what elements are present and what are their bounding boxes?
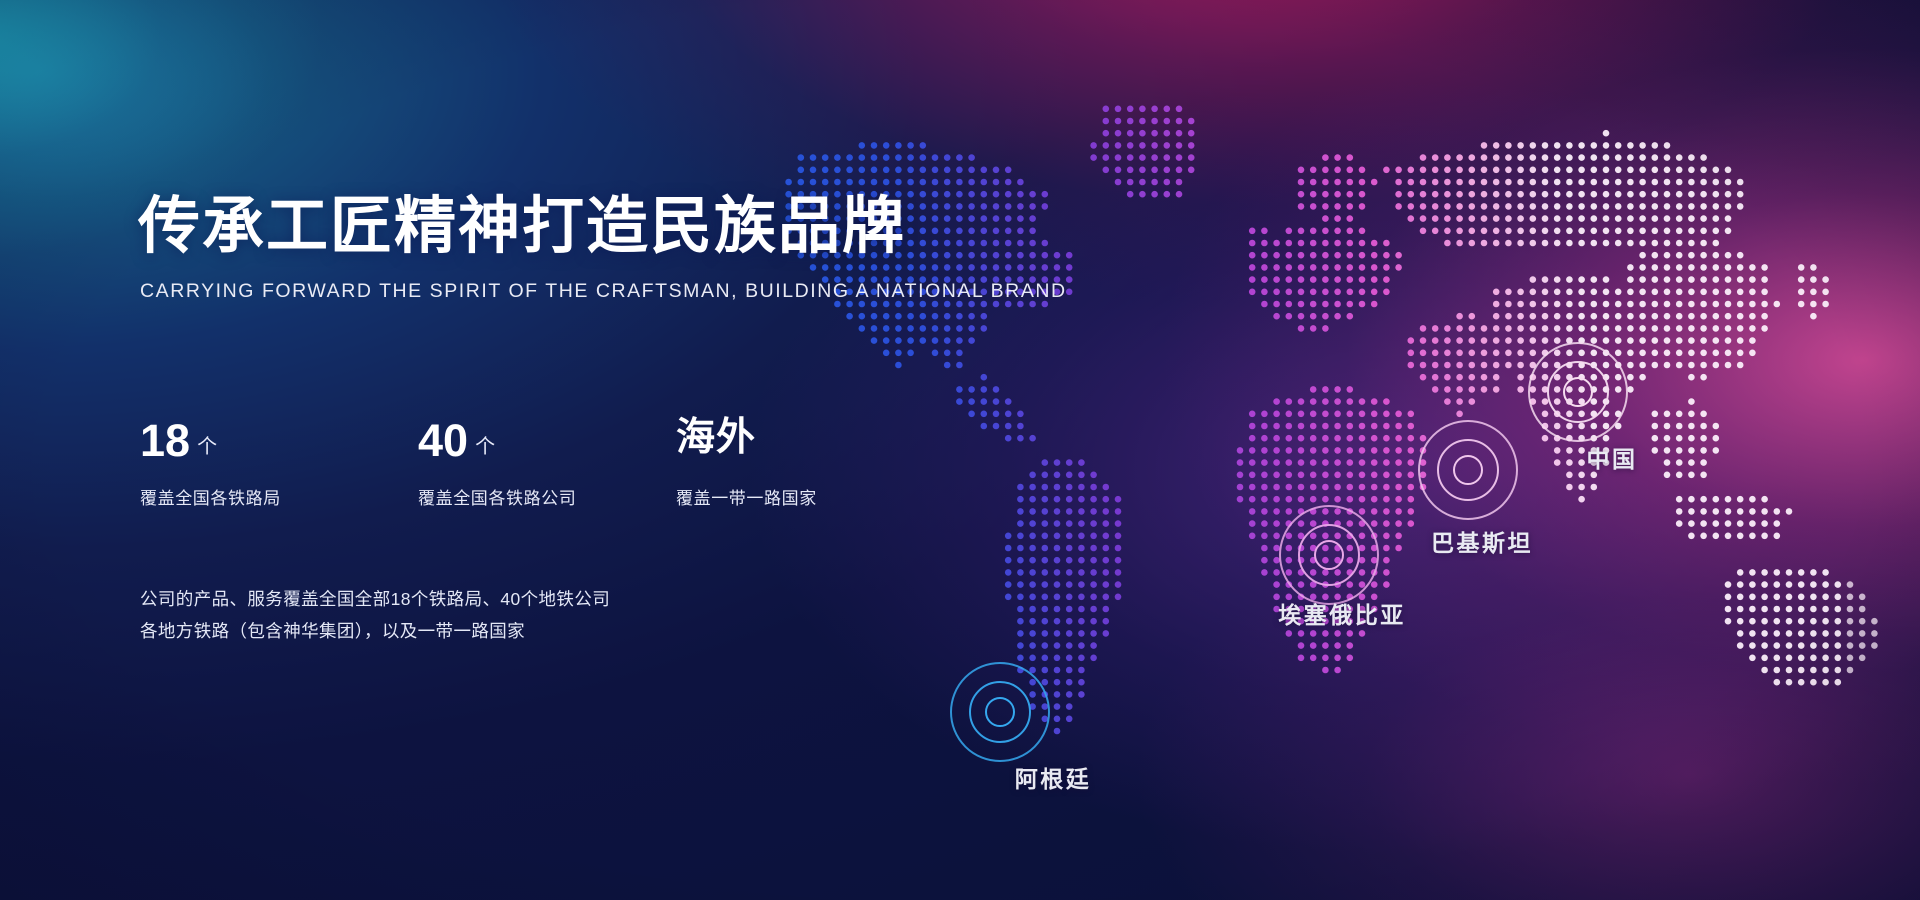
stat-value-row: 40个 (418, 418, 676, 470)
stat-value-row: 海外 (676, 418, 954, 470)
stat-unit: 个 (197, 437, 217, 457)
page-subtitle: CARRYING FORWARD THE SPIRIT OF THE CRAFT… (140, 280, 958, 303)
stat-value: 海外 (676, 418, 756, 457)
headline-block: 传承工匠精神打造民族品牌 CARRYING FORWARD THE SPIRIT… (138, 196, 958, 303)
map-label-ethiopia: 埃塞俄比亚 (1278, 596, 1406, 630)
page-title: 传承工匠精神打造民族品牌 (138, 196, 958, 258)
map-label-argentina: 阿根廷 (1015, 760, 1092, 794)
stat-item-1: 40个覆盖全国各铁路公司 (418, 418, 676, 509)
description-block: 公司的产品、服务覆盖全国全部18个铁路局、40个地铁公司 各地方铁路（包含神华集… (140, 583, 610, 648)
statistics-row: 18个覆盖全国各铁路局40个覆盖全国各铁路公司海外覆盖一带一路国家 (140, 418, 954, 509)
stat-value: 18 (140, 418, 190, 463)
stat-description: 覆盖一带一路国家 (676, 484, 954, 509)
stat-item-0: 18个覆盖全国各铁路局 (140, 418, 418, 509)
stat-value-row: 18个 (140, 418, 418, 470)
stat-item-2: 海外覆盖一带一路国家 (676, 418, 954, 509)
stat-unit: 个 (475, 437, 495, 457)
promo-banner: 中国巴基斯坦埃塞俄比亚阿根廷 传承工匠精神打造民族品牌 CARRYING FOR… (0, 0, 1920, 900)
stat-description: 覆盖全国各铁路公司 (418, 484, 676, 509)
stat-value: 40 (418, 418, 468, 463)
description-line-1: 公司的产品、服务覆盖全国全部18个铁路局、40个地铁公司 (140, 583, 610, 615)
map-label-china: 中国 (1587, 440, 1638, 474)
stat-description: 覆盖全国各铁路局 (140, 484, 418, 509)
description-line-2: 各地方铁路（包含神华集团），以及一带一路国家 (140, 615, 610, 647)
map-label-pakistan: 巴基斯坦 (1431, 524, 1533, 558)
